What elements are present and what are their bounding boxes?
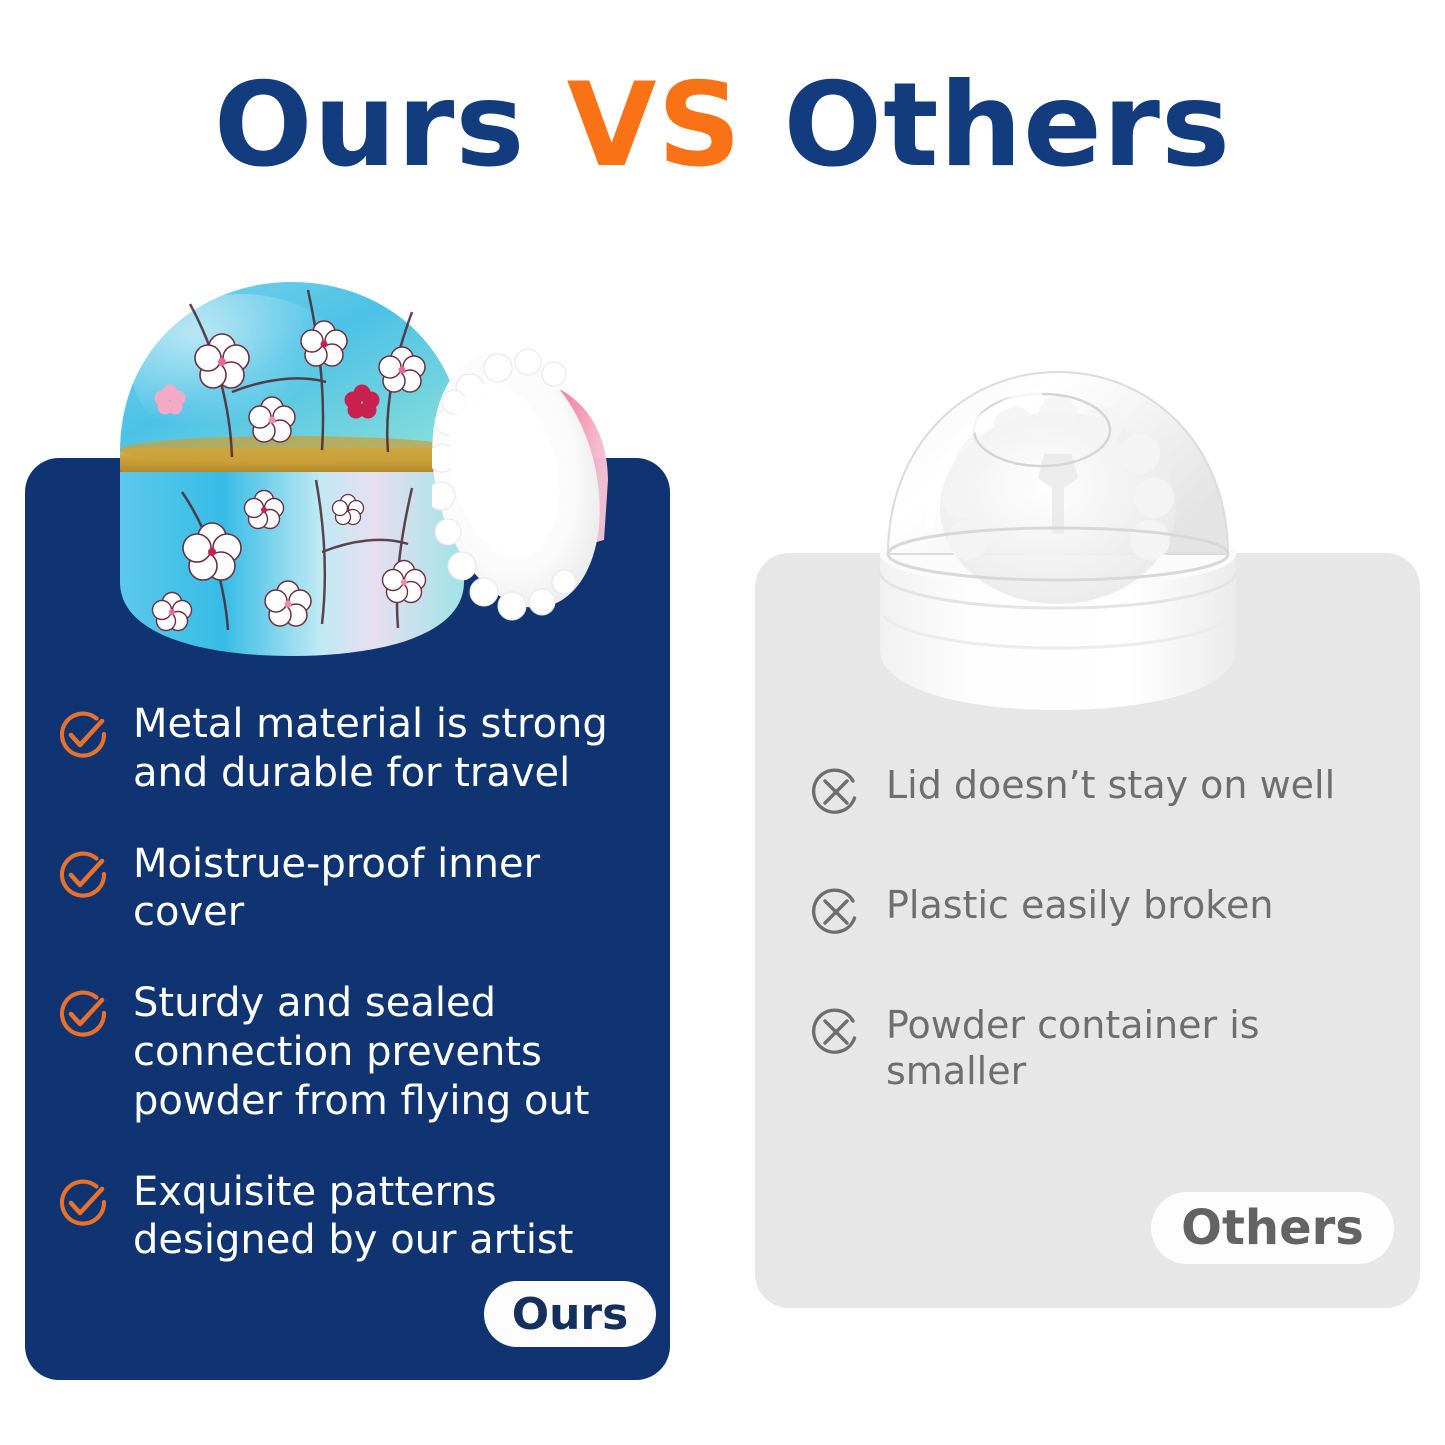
title-word-ours: Ours xyxy=(214,58,525,193)
check-circle-icon xyxy=(55,1174,111,1230)
ours-badge: Ours xyxy=(484,1281,656,1347)
check-circle-icon xyxy=(55,706,111,762)
x-circle-icon xyxy=(808,884,864,940)
list-item-label: Sturdy and sealed connection prevents po… xyxy=(133,979,655,1125)
list-item: Powder container is smaller xyxy=(808,1002,1408,1095)
ours-feature-list: Metal material is strong and durable for… xyxy=(55,700,655,1307)
list-item: Lid doesn’t stay on well xyxy=(808,762,1408,820)
list-item-label: Plastic easily broken xyxy=(886,882,1273,928)
x-circle-icon xyxy=(808,1004,864,1060)
x-circle-icon xyxy=(808,764,864,820)
list-item: Plastic easily broken xyxy=(808,882,1408,940)
list-item-label: Moistrue-proof inner cover xyxy=(133,840,655,938)
others-product-image xyxy=(858,358,1258,720)
list-item: Sturdy and sealed connection prevents po… xyxy=(55,979,655,1125)
others-badge: Others xyxy=(1151,1192,1394,1264)
list-item: Moistrue-proof inner cover xyxy=(55,840,655,938)
list-item-label: Metal material is strong and durable for… xyxy=(133,700,655,798)
list-item: Metal material is strong and durable for… xyxy=(55,700,655,798)
title-word-vs: VS xyxy=(567,58,742,193)
ours-product-image xyxy=(112,252,472,662)
page-title: Ours VS Others xyxy=(0,62,1445,190)
title-word-others: Others xyxy=(783,58,1231,193)
comparison-infographic: Ours VS Others xyxy=(0,0,1445,1445)
list-item-label: Exquisite patterns designed by our artis… xyxy=(133,1168,655,1266)
list-item-label: Lid doesn’t stay on well xyxy=(886,762,1335,808)
others-drawback-list: Lid doesn’t stay on well Plastic easily … xyxy=(808,762,1408,1157)
check-circle-icon xyxy=(55,846,111,902)
list-item-label: Powder container is smaller xyxy=(886,1002,1408,1095)
check-circle-icon xyxy=(55,985,111,1041)
powder-puff-image xyxy=(432,330,657,660)
list-item: Exquisite patterns designed by our artis… xyxy=(55,1168,655,1266)
